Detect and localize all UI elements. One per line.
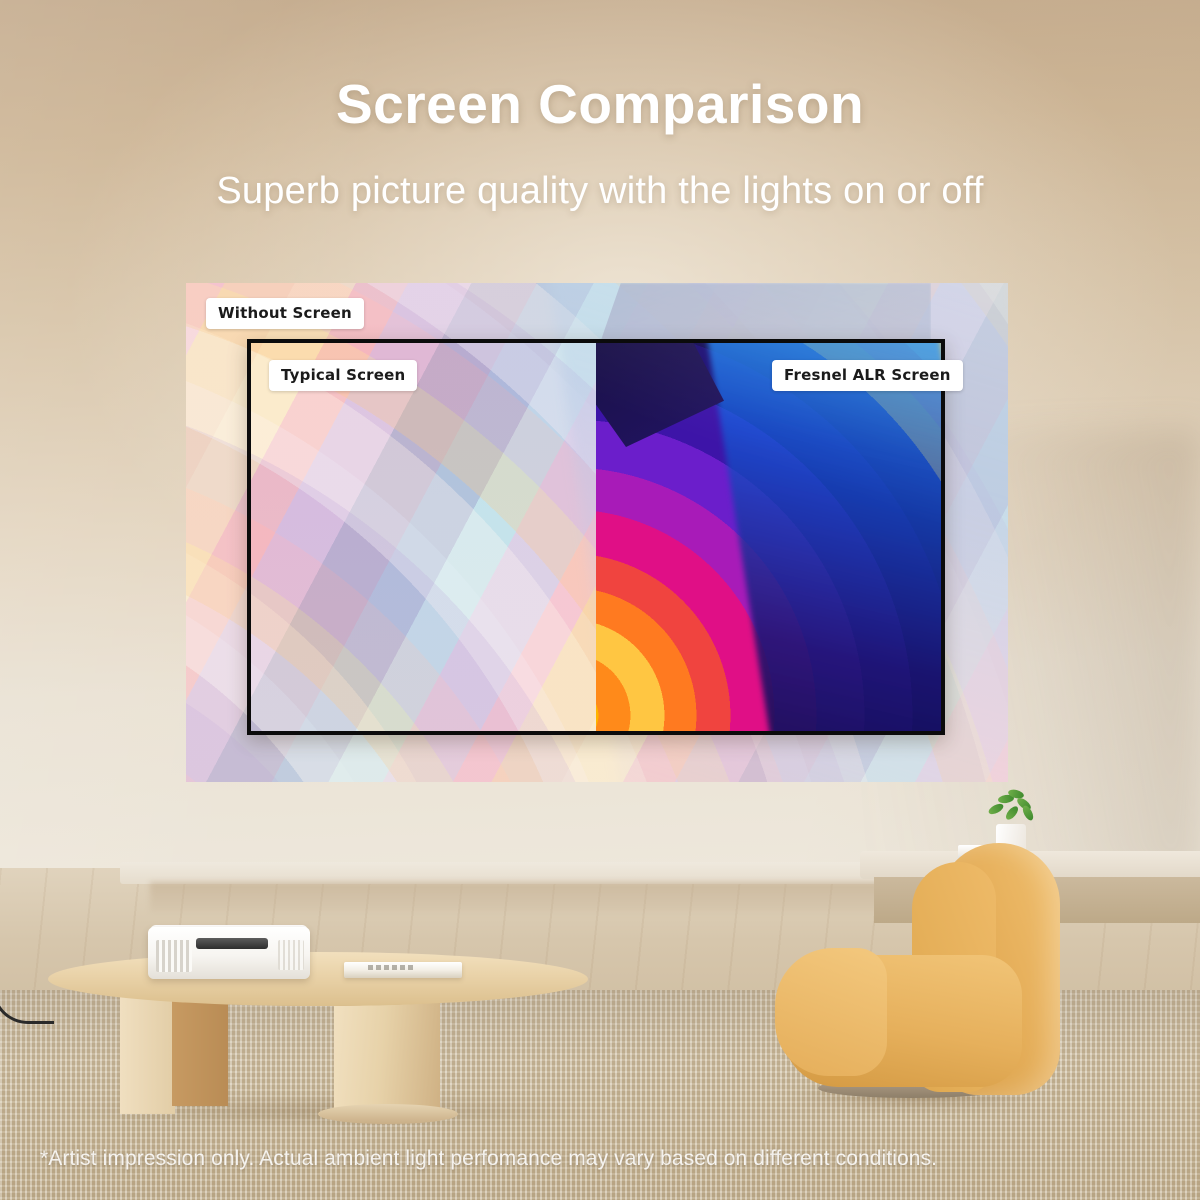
coffee-table-top: [48, 952, 588, 1006]
console-bench-left: [120, 862, 900, 884]
console-bench-left-shadow: [150, 882, 890, 912]
book-title-lines: [368, 965, 414, 970]
typical-half-washout: [251, 343, 596, 731]
label-without-screen: Without Screen: [206, 298, 364, 329]
power-cable-tail: [0, 984, 54, 1024]
screen-half-typical: [251, 343, 596, 731]
plant-leaves-icon: [986, 789, 1038, 829]
screen-half-fresnel-alr: [596, 343, 941, 731]
label-typical-screen: Typical Screen: [269, 360, 417, 391]
fresnel-half-sheen: [596, 343, 941, 731]
disclaimer-text: *Artist impression only. Actual ambient …: [40, 1147, 1160, 1171]
projector-lens-strip: [196, 938, 268, 949]
coffee-table-foot: [318, 1104, 458, 1124]
label-fresnel-alr-screen: Fresnel ALR Screen: [772, 360, 963, 391]
projection-screen: [247, 339, 945, 735]
screen-image-area: [251, 343, 941, 731]
page-title: Screen Comparison: [0, 72, 1200, 136]
coffee-table-leg-left: [120, 996, 175, 1114]
page-subtitle: Superb picture quality with the lights o…: [0, 170, 1200, 213]
projector-vent-right-icon: [278, 940, 304, 970]
coffee-table-leg-center: [334, 994, 440, 1116]
projector-vent-left-icon: [156, 940, 192, 972]
armchair-arm: [775, 948, 887, 1076]
coffee-table-leg-left-inner: [172, 996, 228, 1106]
